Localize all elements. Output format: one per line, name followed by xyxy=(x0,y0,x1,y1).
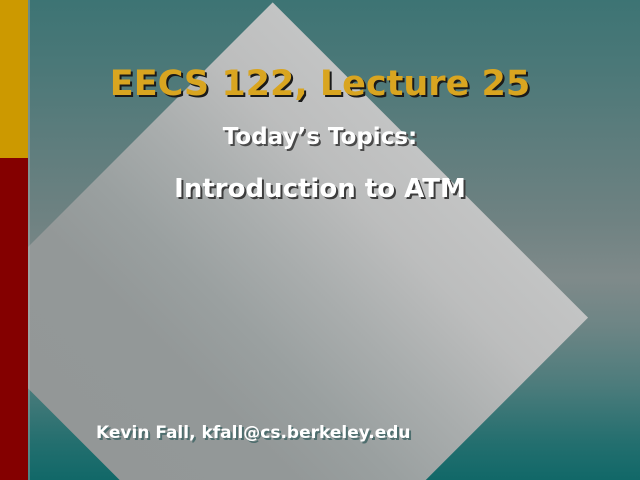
slide-subtitle: Today’s Topics: xyxy=(0,124,640,150)
presentation-slide: EECS 122, Lecture 25 Today’s Topics: Int… xyxy=(0,0,640,480)
slide-topic-line: Introduction to ATM xyxy=(0,174,640,204)
slide-author-credit: Kevin Fall, kfall@cs.berkeley.edu xyxy=(96,423,411,443)
slide-title: EECS 122, Lecture 25 xyxy=(0,64,640,104)
sidebar-bar-red xyxy=(0,158,28,480)
